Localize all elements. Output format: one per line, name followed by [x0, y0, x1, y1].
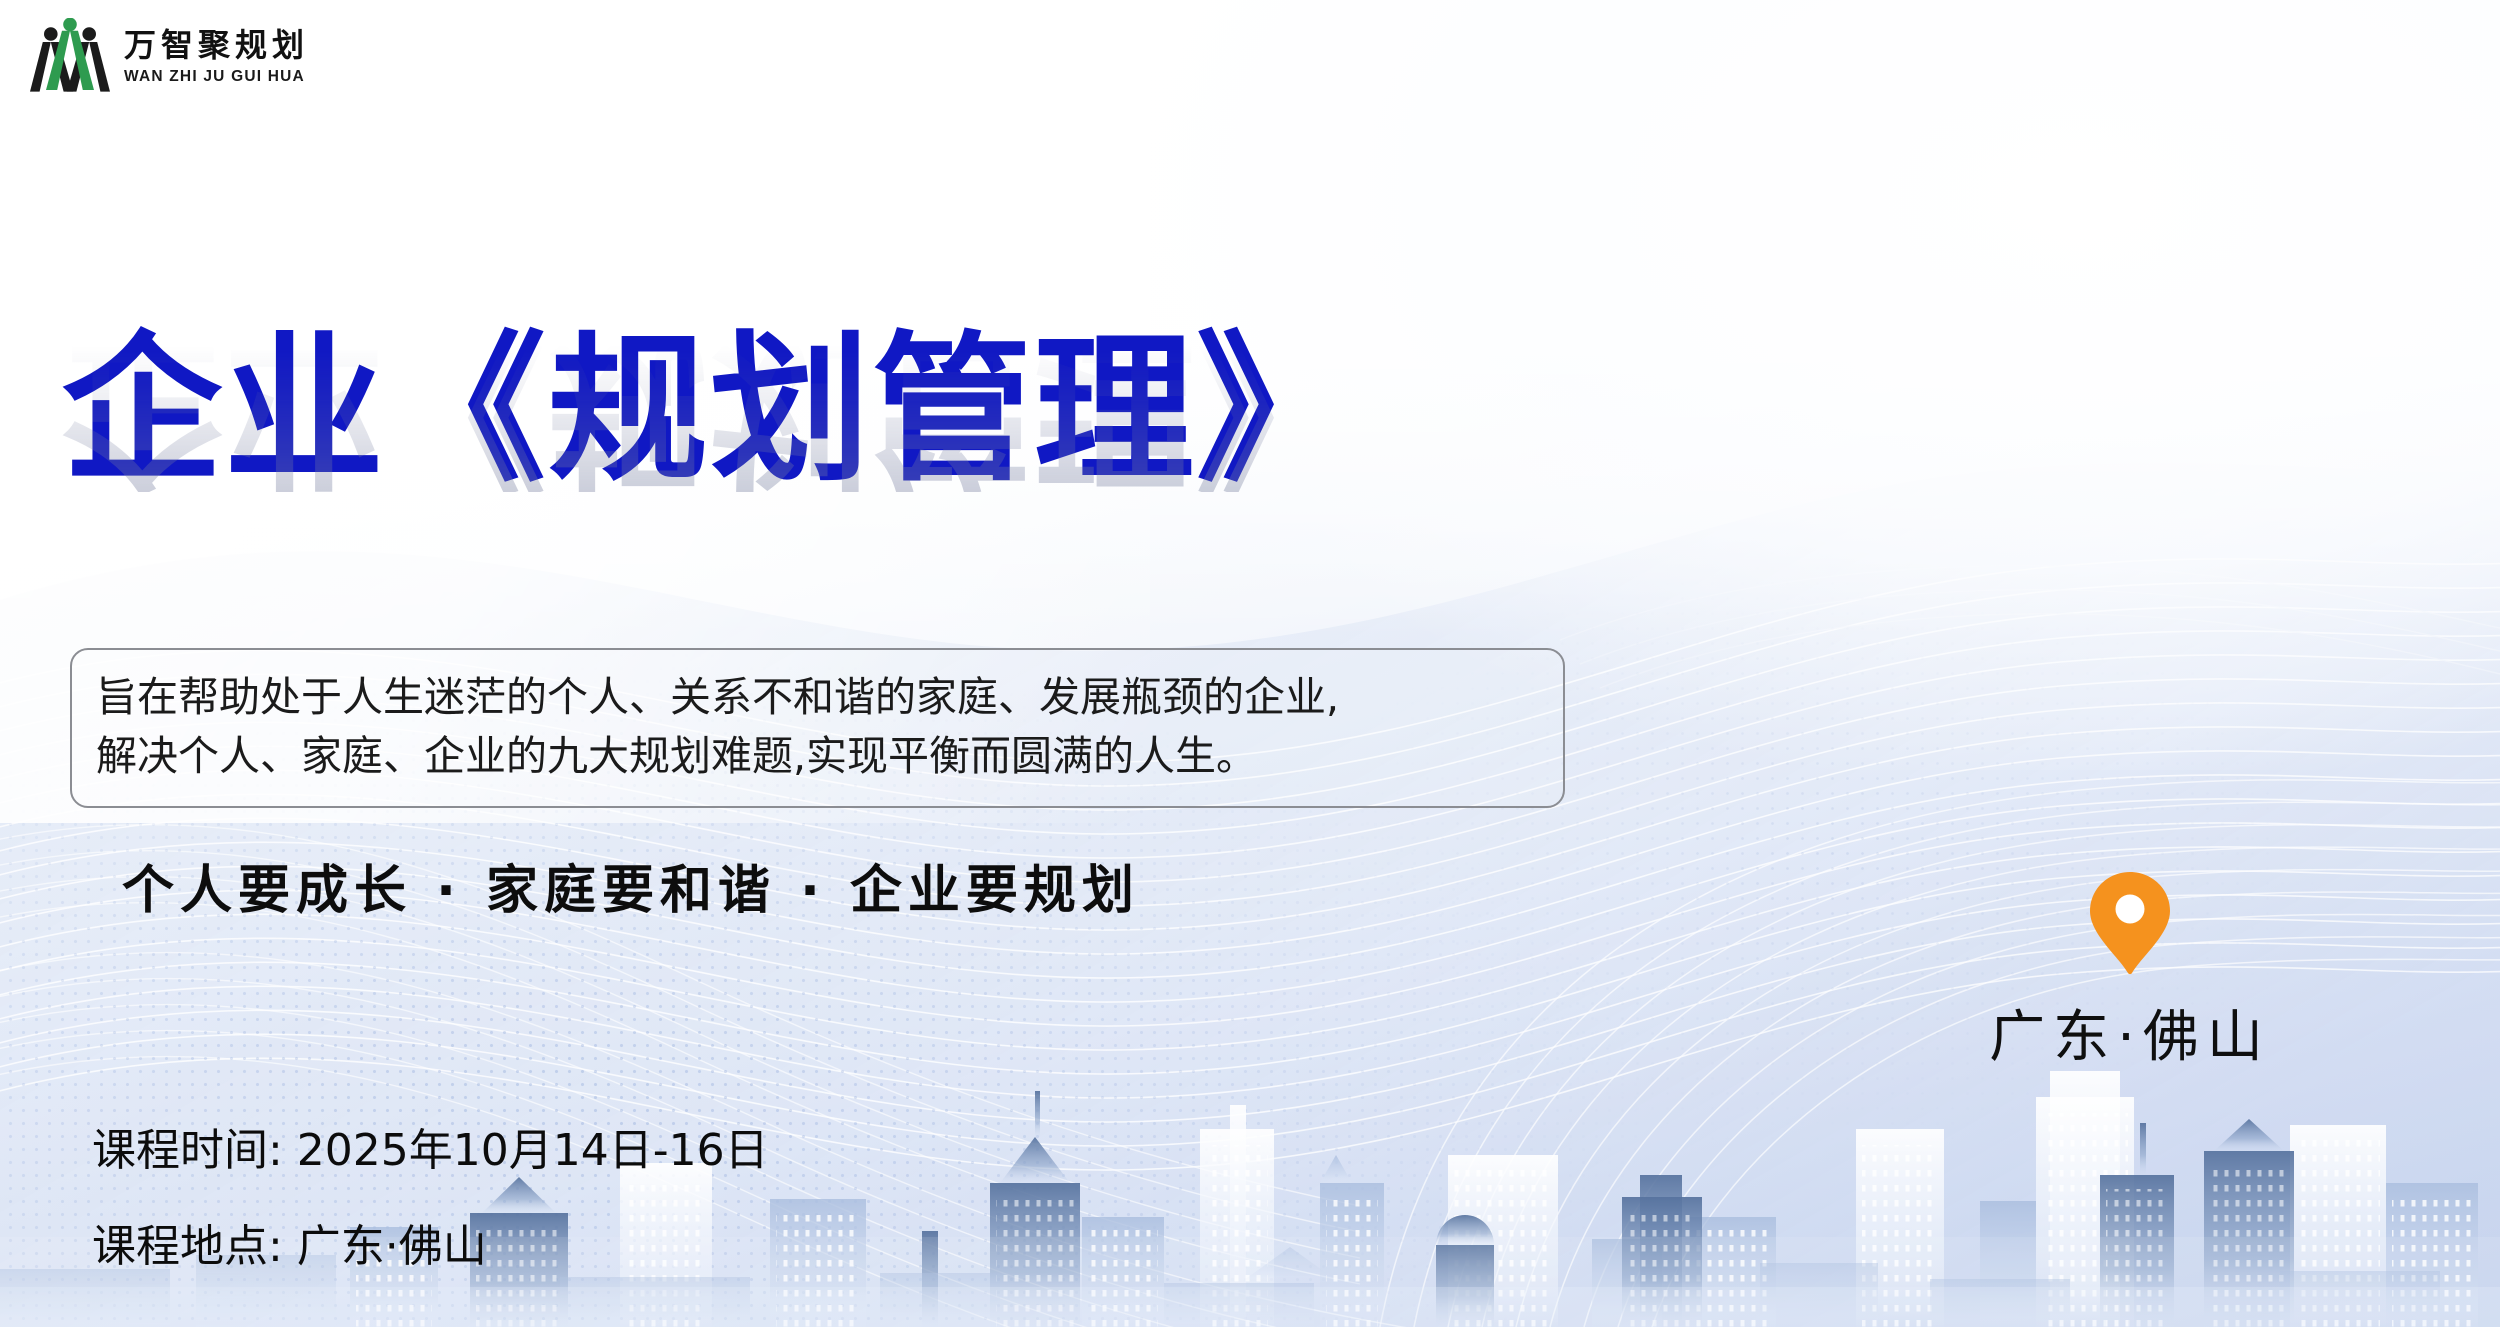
- location-label: 广东·佛山: [1940, 992, 2320, 1073]
- description-box: 旨在帮助处于人生迷茫的个人、关系不和谐的家庭、发展瓶颈的企业, 解决个人、家庭、…: [70, 648, 1565, 808]
- hero-title-block: 企业《规划管理》 企业《规划管理》: [62, 330, 1702, 652]
- brand-logo[interactable]: 万智聚规划 WAN ZHI JU GUI HUA: [30, 18, 309, 96]
- page-title: 企业《规划管理》: [62, 330, 1702, 490]
- course-info: 课程时间: 2025年10月14日-16日 课程地点: 广东·佛山: [92, 1129, 769, 1269]
- description-line-2: 解决个人、家庭、企业的九大规划难题,实现平衡而圆满的人生。: [96, 727, 1539, 786]
- brand-name-en: WAN ZHI JU GUI HUA: [124, 68, 309, 87]
- brand-name-cn: 万智聚规划: [124, 27, 309, 65]
- location-block: 广东·佛山: [1940, 868, 2320, 1073]
- three-people-m-logo-icon: [30, 18, 110, 96]
- course-time: 课程时间: 2025年10月14日-16日: [92, 1129, 769, 1173]
- poster-canvas: 万智聚规划 WAN ZHI JU GUI HUA 企业《规划管理》 企业《规划管…: [0, 0, 2500, 1327]
- brand-logo-text: 万智聚规划 WAN ZHI JU GUI HUA: [124, 27, 309, 86]
- tagline: 个人要成长 · 家庭要和谐 · 企业要规划: [122, 848, 1140, 923]
- description-line-1: 旨在帮助处于人生迷茫的个人、关系不和谐的家庭、发展瓶颈的企业,: [96, 668, 1539, 727]
- map-pin-icon: [2084, 868, 2176, 978]
- course-place: 课程地点: 广东·佛山: [92, 1225, 769, 1269]
